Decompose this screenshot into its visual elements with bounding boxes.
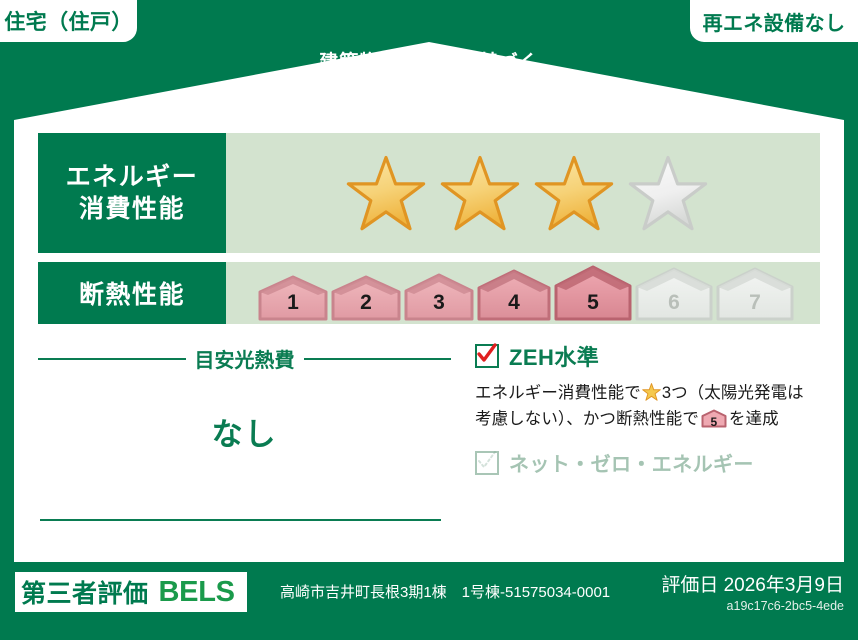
cost-rule-right bbox=[304, 358, 452, 360]
star-icon-empty-4 bbox=[628, 155, 708, 232]
energy-performance-label: エネルギー 消費性能 bbox=[38, 133, 226, 253]
lower-section: 目安光熱費 なし ZEH水準 エネルギー消費性能で3つ（太陽光発電は考慮し bbox=[38, 338, 820, 543]
insulation-performance-row: 断熱性能 1 bbox=[38, 262, 820, 324]
utility-cost-value: なし bbox=[38, 409, 451, 454]
insulation-level-2-number: 2 bbox=[331, 291, 401, 315]
net-zero-energy-checkbox[interactable] bbox=[475, 451, 499, 475]
insulation-label-text: 断熱性能 bbox=[79, 275, 185, 311]
zeh-description: エネルギー消費性能で3つ（太陽光発電は考慮しない）、かつ断熱性能で5を達成 bbox=[475, 381, 820, 432]
star-icon-inline bbox=[642, 383, 661, 401]
bels-badge: 第三者評価 BELS bbox=[15, 572, 247, 612]
energy-performance-value bbox=[226, 133, 820, 253]
insulation-level-4-number: 4 bbox=[477, 291, 551, 315]
energy-label-line2: 消費性能 bbox=[79, 193, 185, 225]
bels-logo: BELS bbox=[159, 576, 235, 609]
title-main: 省エネ性能ラベル bbox=[0, 79, 858, 120]
insulation-performance-label: 断熱性能 bbox=[38, 262, 226, 324]
tag-building-type: 住宅（住戸） bbox=[0, 0, 137, 42]
evaluation-info: 評価日 2026年3月9日 a19c17c6-2bc5-4ede bbox=[661, 570, 844, 613]
insulation-level-3: 3 bbox=[404, 273, 474, 321]
cost-rule-left bbox=[38, 358, 186, 360]
insulation-badge-inline: 5 bbox=[701, 409, 727, 428]
insulation-level-6-number: 6 bbox=[635, 291, 713, 315]
insulation-level-7: 7 bbox=[716, 267, 794, 321]
insulation-level-scale: 1 2 3 bbox=[252, 265, 794, 321]
title-subtitle: 建築物省エネ法に基づく bbox=[0, 52, 858, 75]
evaluation-id: a19c17c6-2bc5-4ede bbox=[661, 599, 844, 613]
insulation-badge-number: 5 bbox=[701, 416, 727, 428]
net-zero-energy-label: ネット・ゼロ・エネルギー bbox=[509, 448, 754, 477]
insulation-level-6: 6 bbox=[635, 267, 713, 321]
star-rating bbox=[346, 155, 708, 232]
evaluation-date: 評価日 2026年3月9日 bbox=[661, 570, 844, 597]
zeh-section: ZEH水準 エネルギー消費性能で3つ（太陽光発電は考慮しない）、かつ断熱性能で5… bbox=[451, 338, 820, 543]
insulation-level-4: 4 bbox=[477, 269, 551, 321]
utility-cost-heading-text: 目安光熱費 bbox=[195, 344, 295, 373]
page-title: 建築物省エネ法に基づく 省エネ性能ラベル bbox=[0, 52, 858, 120]
cost-bottom-divider bbox=[40, 519, 441, 521]
insulation-performance-value: 1 2 3 bbox=[226, 262, 820, 324]
zeh-title: ZEH水準 bbox=[509, 340, 599, 372]
energy-performance-row: エネルギー 消費性能 bbox=[38, 133, 820, 253]
zeh-checkbox[interactable] bbox=[475, 344, 499, 368]
utility-cost-section: 目安光熱費 なし bbox=[38, 338, 451, 543]
zeh-desc-part3: を達成 bbox=[729, 410, 779, 428]
energy-label-line1: エネルギー bbox=[66, 161, 199, 193]
zeh-desc-part1: エネルギー消費性能で bbox=[475, 384, 641, 402]
net-zero-energy-row: ネット・ゼロ・エネルギー bbox=[475, 448, 820, 477]
insulation-level-1: 1 bbox=[258, 275, 328, 321]
tag-building-type-label: 住宅（住戸） bbox=[4, 6, 133, 36]
star-icon-filled-3 bbox=[534, 155, 614, 232]
third-party-label: 第三者評価 bbox=[21, 574, 149, 610]
energy-performance-label: 住宅（住戸） 再エネ設備なし 建築物省エネ法に基づく 省エネ性能ラベル エネルギ… bbox=[0, 0, 858, 640]
insulation-level-2: 2 bbox=[331, 275, 401, 321]
utility-cost-heading: 目安光熱費 bbox=[38, 338, 451, 373]
tag-renewable-energy-label: 再エネ設備なし bbox=[703, 7, 846, 36]
star-icon-filled-1 bbox=[346, 155, 426, 232]
insulation-level-7-number: 7 bbox=[716, 291, 794, 315]
insulation-level-5: 5 bbox=[554, 265, 632, 321]
property-address: 高崎市吉井町長根3期1棟 1号棟-51575034-0001 bbox=[280, 581, 610, 602]
tag-renewable-energy: 再エネ設備なし bbox=[690, 0, 858, 42]
label-content: エネルギー 消費性能 bbox=[38, 133, 820, 553]
insulation-level-3-number: 3 bbox=[404, 291, 474, 315]
footer: 第三者評価 BELS 高崎市吉井町長根3期1棟 1号棟-51575034-000… bbox=[0, 562, 858, 640]
insulation-level-1-number: 1 bbox=[258, 291, 328, 315]
insulation-level-5-number: 5 bbox=[554, 291, 632, 315]
star-icon-filled-2 bbox=[440, 155, 520, 232]
zeh-heading: ZEH水準 bbox=[475, 340, 820, 372]
